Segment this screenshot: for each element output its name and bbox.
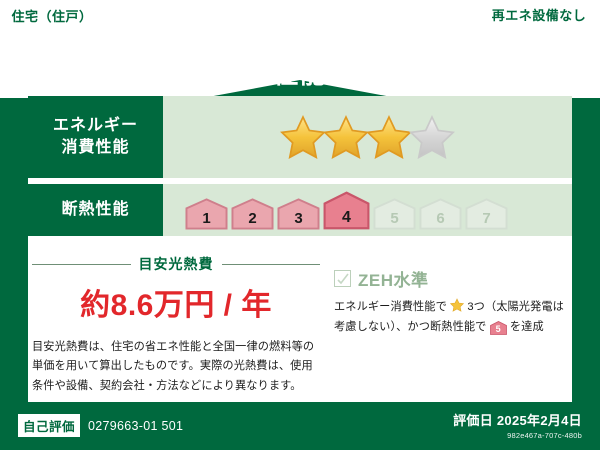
- footer-right-group: 評価日 2025年2月4日 982e467a-707c-480b: [453, 410, 582, 440]
- zeh-desc-part3: を達成: [510, 321, 544, 333]
- insulation-grade-7: 7: [465, 198, 508, 230]
- insulation-grade-label: 7: [482, 210, 490, 227]
- utility-cost-heading-text: 目安光熱費: [139, 254, 214, 274]
- energy-label-root: 住宅（住戸） 再エネ設備なし 建築物省エネ法に基づく 省エネ性能ラベル エネルギ…: [0, 0, 600, 450]
- renewable-equipment-tag: 再エネ設備なし: [478, 0, 600, 28]
- energy-performance-row: エネルギー 消費性能: [28, 96, 572, 178]
- insulation-performance-label: 断熱性能: [28, 184, 163, 236]
- renewable-equipment-label: 再エネ設備なし: [492, 5, 587, 24]
- header-subtitle: 建築物省エネ法に基づく: [0, 34, 600, 53]
- building-type-label: 住宅（住戸）: [11, 6, 92, 25]
- insulation-grade-scale: 1234567: [163, 184, 572, 236]
- energy-performance-label-line1: エネルギー: [53, 115, 138, 137]
- star-icon: [323, 114, 369, 160]
- hash-code: 982e467a-707c-480b: [453, 431, 582, 440]
- star-icon: [450, 298, 464, 312]
- zeh-block: ZEH水準 エネルギー消費性能で 3つ（太陽光発電は考慮しない）、かつ断熱性能で…: [328, 248, 572, 392]
- house-badge-icon: 5: [490, 321, 507, 335]
- label-content-card: エネルギー 消費性能 断熱性能 1234567 目安光熱費 約8.6万円: [28, 96, 572, 402]
- lower-section: 目安光熱費 約8.6万円 / 年 目安光熱費は、住宅の省エネ性能と全国一律の燃料…: [28, 242, 572, 392]
- insulation-grade-5: 5: [373, 198, 416, 230]
- utility-cost-note: 目安光熱費は、住宅の省エネ性能と全国一律の燃料等の単価を用いて算出したものです。…: [32, 338, 320, 396]
- energy-performance-label: エネルギー 消費性能: [28, 96, 163, 178]
- utility-cost-heading: 目安光熱費: [32, 254, 320, 274]
- insulation-grade-6: 6: [419, 198, 462, 230]
- insulation-grade-label: 4: [342, 209, 351, 227]
- zeh-heading: ZEH水準: [334, 266, 566, 291]
- star-icon: [366, 114, 412, 160]
- page-title: 省エネ性能ラベル: [0, 55, 600, 91]
- label-footer: 自己評価 0279663-01 501 評価日 2025年2月4日 982e46…: [0, 402, 600, 450]
- zeh-title: ZEH水準: [358, 266, 429, 291]
- insulation-grade-4: 4: [323, 191, 370, 230]
- utility-cost-block: 目安光熱費 約8.6万円 / 年 目安光熱費は、住宅の省エネ性能と全国一律の燃料…: [28, 248, 328, 392]
- star-icon: [409, 114, 455, 160]
- zeh-desc-grade: 5: [490, 321, 507, 337]
- evaluation-date: 評価日 2025年2月4日: [453, 410, 582, 429]
- checkmark-icon: [334, 270, 351, 287]
- zeh-desc-part1: エネルギー消費性能で: [334, 301, 447, 313]
- insulation-grade-3: 3: [277, 198, 320, 230]
- energy-performance-label-line2: 消費性能: [61, 137, 129, 159]
- insulation-grade-label: 3: [294, 210, 302, 227]
- utility-cost-value: 約8.6万円 / 年: [32, 280, 320, 324]
- certificate-id: 0279663-01 501: [88, 419, 183, 433]
- zeh-description: エネルギー消費性能で 3つ（太陽光発電は考慮しない）、かつ断熱性能で 5 を達成: [334, 298, 566, 338]
- building-type-tag: 住宅（住戸）: [0, 0, 104, 30]
- heading-rule-left: [32, 264, 131, 265]
- insulation-grade-label: 1: [202, 210, 210, 227]
- insulation-grade-label: 2: [248, 210, 256, 227]
- footer-left-group: 自己評価 0279663-01 501: [18, 414, 183, 437]
- insulation-grade-1: 1: [185, 198, 228, 230]
- insulation-grade-label: 6: [436, 210, 444, 227]
- star-icon: [280, 114, 326, 160]
- insulation-performance-label-text: 断熱性能: [61, 199, 129, 221]
- header-text-block: 建築物省エネ法に基づく 省エネ性能ラベル: [0, 34, 600, 91]
- heading-rule-right: [222, 264, 321, 265]
- star-rating: [163, 96, 572, 178]
- self-evaluation-badge: 自己評価: [18, 414, 80, 437]
- insulation-performance-row: 断熱性能 1234567: [28, 184, 572, 236]
- insulation-grade-label: 5: [390, 210, 398, 227]
- insulation-grade-2: 2: [231, 198, 274, 230]
